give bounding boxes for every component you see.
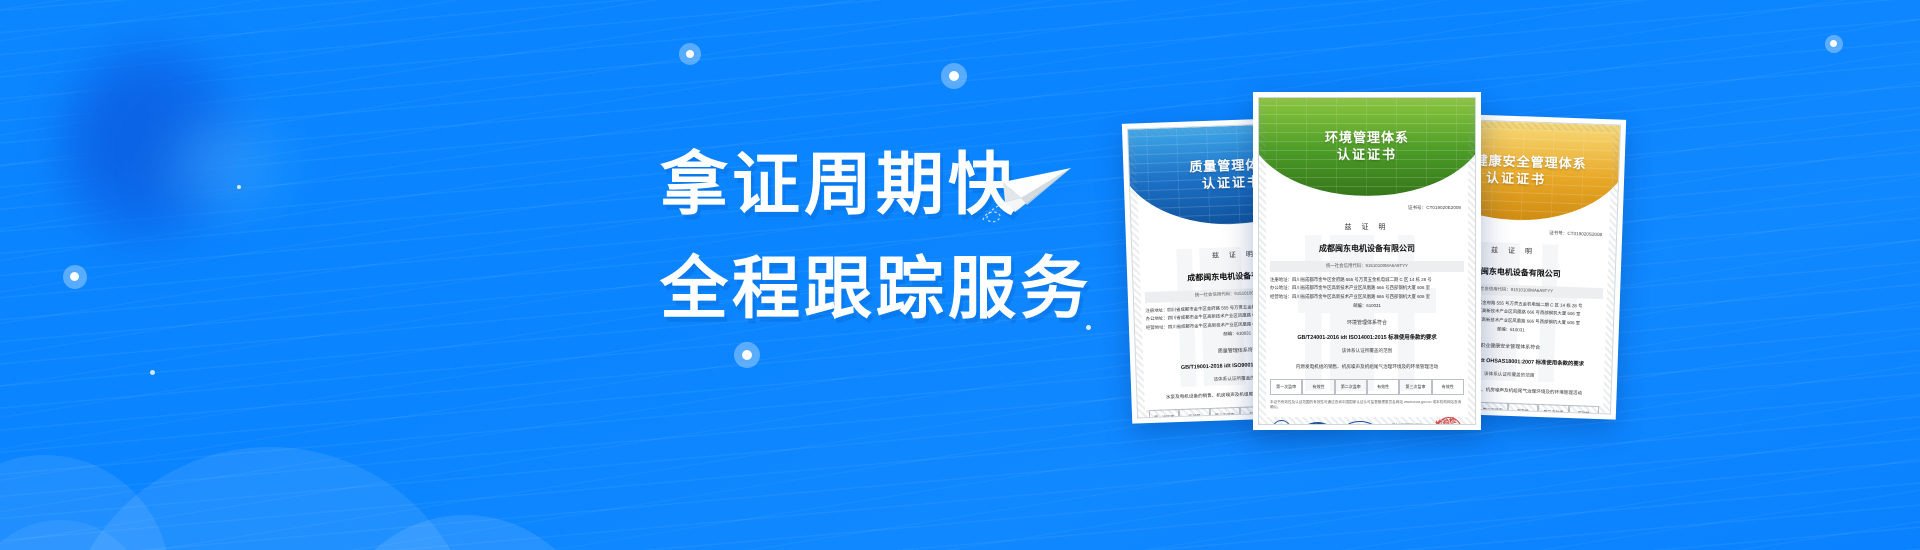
certificate-postcode: 邮编：610031 — [1270, 302, 1464, 311]
cnas-logo: CNAS — [1344, 421, 1376, 425]
background-dot — [742, 350, 752, 360]
promo-banner: 拿证周期快 全程跟踪服务 质量管理体系 认证证书 证书号：CT019020Q20… — [0, 0, 1920, 550]
cnca-logo: 国 — [1272, 420, 1291, 425]
audit-cell: 第一次监审 — [1149, 409, 1180, 418]
certificate-system-label: 环境管理体系符合 — [1270, 319, 1464, 329]
certificate-card-environment[interactable]: 环境管理体系 认证证书 证书号：CT019020E2008 兹 证 明 成都闽东… — [1253, 92, 1481, 430]
background-dot — [237, 185, 241, 189]
audit-cell: 第三次监审 — [1538, 404, 1569, 414]
audit-cell: 有效性 — [1302, 379, 1334, 395]
certificate-no-label: 证书号： — [1549, 230, 1568, 236]
certificate-no-label: 证书号： — [1408, 205, 1426, 210]
background-dot — [949, 71, 959, 81]
iaf-logo: IAF — [1304, 422, 1331, 425]
certificate-no: CT019020E2008 — [1426, 205, 1461, 210]
audit-cell: 有效性 — [1508, 403, 1539, 414]
audit-cell: 第二次监审 — [1209, 407, 1240, 418]
certificate-header-environment: 环境管理体系 认证证书 — [1258, 98, 1476, 196]
audit-cell: 第一次监审 — [1270, 379, 1302, 395]
paper-plane-icon — [975, 150, 1075, 228]
audit-cell: 有效性 — [1179, 408, 1210, 418]
headline-line-2: 全程跟踪服务 — [660, 244, 1092, 336]
audit-cell: 有效性 — [1367, 379, 1399, 395]
audit-cell: 第二次监审 — [1335, 379, 1367, 395]
certificate-credit-code: 统一社会信用代码：91510100MA6A9TYY — [1270, 261, 1464, 272]
certificate-address-2: 办公地址：四川省成都市金牛区高新技术产业区凤凰路 666 号西部钢机大厦 606… — [1270, 284, 1464, 293]
certificate-audit-table: 第一次监审 有效性 第二次监审 有效性 第三次监审 有效性 — [1270, 379, 1464, 395]
certificate-scope: 内燃发电机组的销售、机房噪声及机组尾气治理环境及的环境管理活动 — [1270, 363, 1464, 371]
certificate-fine-print: 本证书有效性及认证范围的有效性可通过查询中国国家认证认可监督管理委员会网站 ww… — [1270, 400, 1464, 411]
audit-cell: 第二次监审 — [1477, 402, 1508, 415]
audit-cell: 有效性 — [1568, 405, 1599, 414]
certificate-address-1: 注册地址：四川省成都市金牛区金府路 555 号万贯五金机电城二期 C 区 14 … — [1270, 276, 1464, 285]
certificate-no: CT019020S2008 — [1567, 231, 1602, 237]
certificate-scope-label: 该体系认证所覆盖的范围 — [1270, 347, 1464, 356]
certificate-logo-row: 国 IAF CNAS 中国合格评定国家认可委员会 MANAGEMENT SYST… — [1270, 417, 1464, 425]
certificate-group: 质量管理体系 认证证书 证书号：CT019020Q2008 兹 证 明 成都闽东… — [1105, 80, 1625, 460]
certificate-address-3: 经营地址：四川省成都市金牛区高新技术产业区凤凰路 666 号西部钢机大厦 606… — [1270, 293, 1464, 302]
certificate-company: 成都闽东电机设备有限公司 — [1270, 241, 1464, 257]
background-light-blob — [140, 95, 310, 235]
audit-cell: 有效性 — [1432, 379, 1464, 395]
certificate-attest-label: 兹 证 明 — [1270, 221, 1464, 235]
red-stamp-icon: 检验检测 — [1434, 414, 1465, 425]
background-dot — [1830, 40, 1837, 47]
background-dot — [686, 50, 694, 58]
background-dot — [70, 272, 79, 281]
certificate-standard: GB/T24001-2016 idt ISO14001:2015 标准使用条款的… — [1270, 333, 1464, 344]
audit-cell: 第三次监审 — [1399, 379, 1431, 395]
cnas-caption: 中国合格评定国家认可委员会 MANAGEMENT SYSTEM CNAS C17… — [1389, 424, 1423, 425]
background-dot — [150, 370, 155, 375]
